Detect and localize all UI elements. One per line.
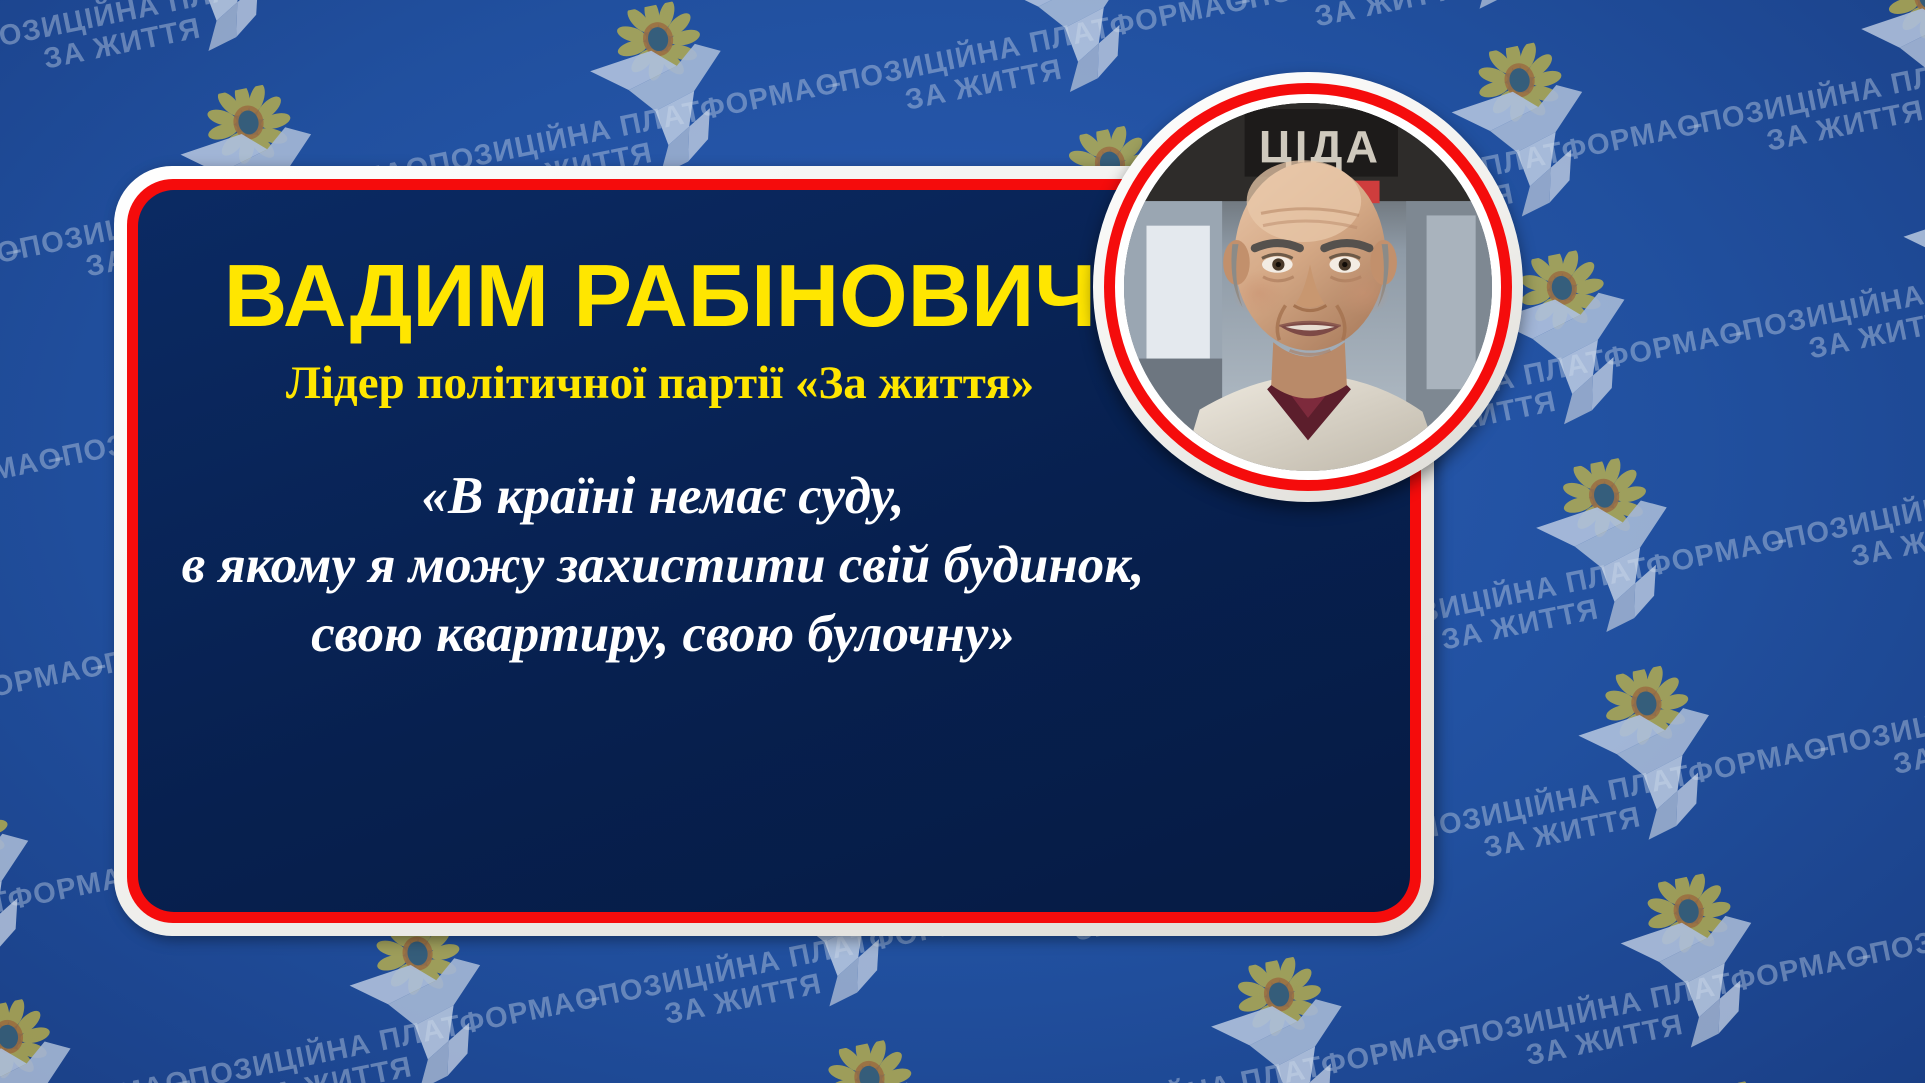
watermark-label: ОПОЗИЦІЙНА ПЛАТФОРМА –ЗА ЖИТТЯ	[1434, 962, 1770, 1083]
poster-canvas: ОПОЗИЦІЙНА ПЛАТФОРМА –ЗА ЖИТТЯОПОЗИЦІЙНА…	[0, 0, 1925, 1083]
portrait-frame: ЦІДА	[1093, 72, 1523, 502]
quote-line-2: в якому я можу захистити свій будинок,	[158, 531, 1168, 600]
watermark-label: ОПОЗИЦІЙНА ПЛАТФОРМА –ЗА ЖИТТЯ	[572, 921, 908, 1048]
watermark-label: ОПОЗИЦІЙНА ПЛАТФОРМА –ЗА ЖИТТЯ	[1024, 1046, 1360, 1083]
portrait-red-ring: ЦІДА	[1104, 83, 1512, 491]
sunflower-dove-icon	[0, 988, 111, 1083]
watermark-label: ОПОЗИЦІЙНА ПЛАТФОРМА –ЗА ЖИТТЯ	[1392, 755, 1728, 882]
quote-text: «В країні немає суду, в якому я можу зах…	[158, 462, 1168, 669]
watermark-label: ОПОЗИЦІЙНА ПЛАТФОРМА –ЗА ЖИТТЯ	[1759, 464, 1925, 591]
politician-role: Лідер політичної партії «За життя»	[190, 360, 1130, 407]
watermark-label: ОПОЗИЦІЙНА ПЛАТФОРМА –ЗА ЖИТТЯ	[163, 1005, 499, 1083]
watermark-label: ОПОЗИЦІЙНА ПЛАТФОРМА –ЗА ЖИТТЯ	[1843, 879, 1925, 1006]
watermark-label: ОПОЗИЦІЙНА ПЛАТФОРМА –ЗА ЖИТТЯ	[1717, 256, 1925, 383]
watermark-label: ОПОЗИЦІЙНА ПЛАТФОРМА –ЗА ЖИТТЯ	[0, 0, 287, 93]
quote-line-1: «В країні немає суду,	[158, 462, 1168, 531]
quote-line-3: свою квартиру, свою булочну»	[158, 600, 1168, 669]
portrait-illustration: ЦІДА	[1124, 103, 1492, 471]
watermark-label: ОПОЗИЦІЙНА ПЛАТФОРМА –ЗА ЖИТТЯ	[813, 7, 1149, 134]
watermark-label: ОПОЗИЦІЙНА ПЛАТФОРМА –ЗА ЖИТТЯ	[1223, 0, 1559, 51]
portrait-photo: ЦІДА	[1124, 103, 1492, 471]
portrait-white-ring: ЦІДА	[1115, 94, 1501, 480]
watermark-label: ОПОЗИЦІЙНА ПЛАТФОРМА –ЗА ЖИТТЯ	[1801, 671, 1925, 798]
politician-name: ВАДИМ РАБІНОВИЧ	[190, 252, 1130, 340]
